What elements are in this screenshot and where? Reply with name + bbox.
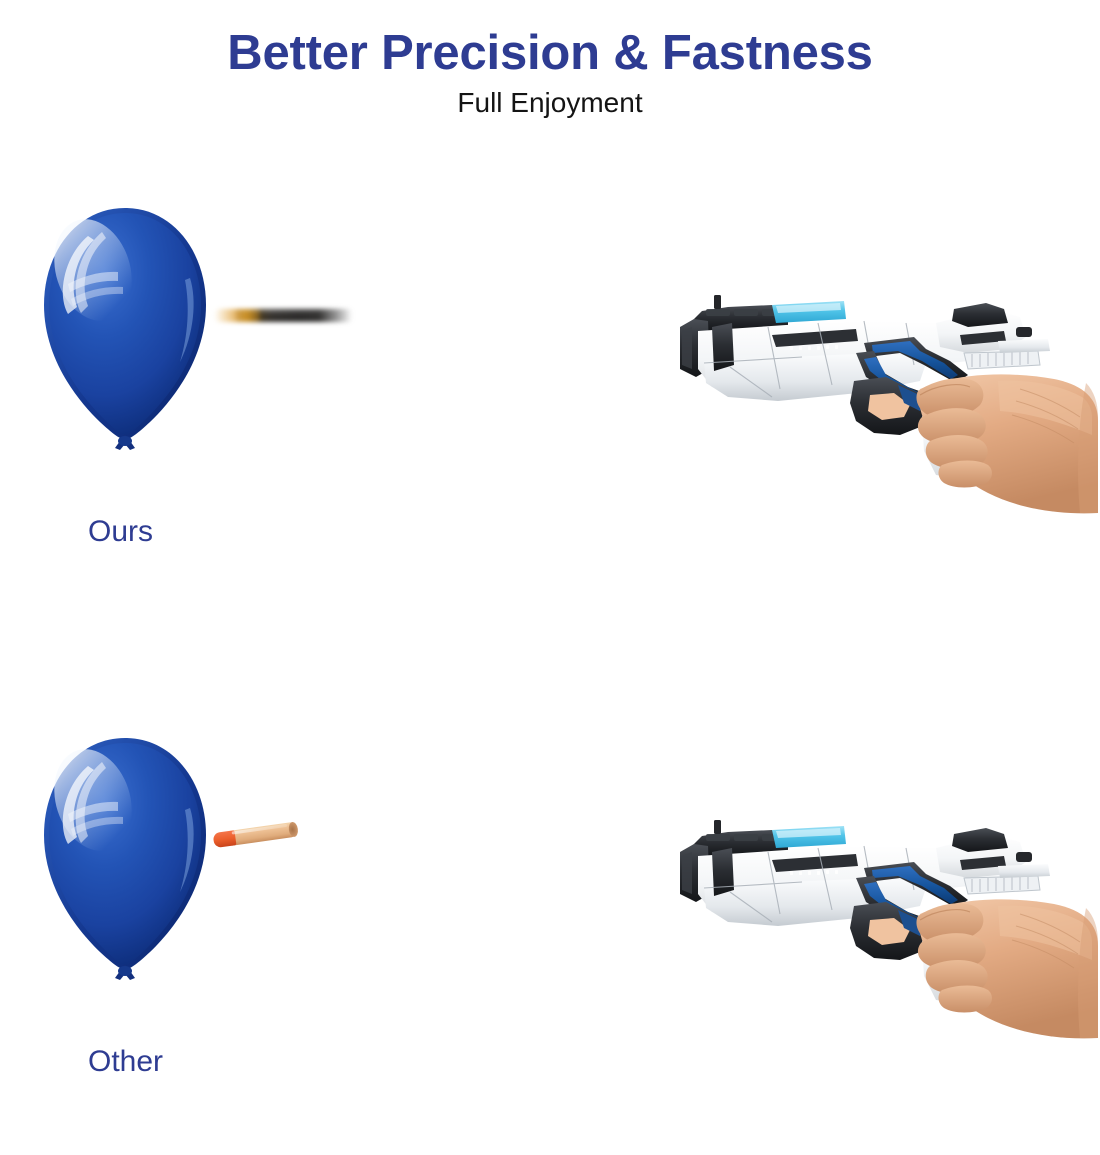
balloon-knot-center xyxy=(118,966,132,976)
blaster-rail-notch-2 xyxy=(734,309,758,316)
blaster-rail-notch-2 xyxy=(734,834,758,841)
row-label-other: Other xyxy=(88,1045,163,1079)
balloon-graphic xyxy=(30,200,220,460)
page-title: Better Precision & Fastness xyxy=(0,0,1100,79)
balloon-ours xyxy=(30,200,220,460)
comparison-row-other: Other xyxy=(0,685,1100,1155)
header: Better Precision & Fastness Full Enjoyme… xyxy=(0,0,1100,118)
blaster-graphic xyxy=(668,790,1098,1050)
blaster-side-wedge xyxy=(712,323,734,371)
blaster-front-sight xyxy=(714,820,721,834)
blaster-front-sight xyxy=(714,295,721,309)
hand-pinky-finger xyxy=(938,986,991,1013)
blaster-side-wedge xyxy=(712,848,734,896)
blaster-other xyxy=(668,790,1098,1050)
blaster-ours xyxy=(668,265,1098,525)
blaster-rear-extension xyxy=(998,864,1050,878)
blaster-graphic xyxy=(668,265,1098,525)
blaster-rail-notch-1 xyxy=(706,834,730,841)
balloon-other xyxy=(30,730,220,990)
balloon-knot-center xyxy=(118,436,132,446)
slow-dart xyxy=(208,807,308,860)
comparison-row-ours: Ours xyxy=(0,155,1100,625)
blaster-rear-sight xyxy=(952,303,1008,327)
hand-pinky-finger xyxy=(938,461,991,488)
blaster-rear-cap xyxy=(1016,327,1032,337)
blaster-rear-cap xyxy=(1016,852,1032,862)
fast-dart xyxy=(212,301,352,329)
row-label-ours: Ours xyxy=(88,515,153,549)
blaster-rail-notch-1 xyxy=(706,309,730,316)
fast-dart-highlight xyxy=(238,310,343,313)
balloon-graphic xyxy=(30,730,220,990)
blaster-muzzle-ridge xyxy=(682,852,692,894)
blaster-muzzle-ridge xyxy=(682,327,692,369)
blaster-rear-extension xyxy=(998,339,1050,353)
fast-dart-motion-blur xyxy=(212,301,352,329)
page-subtitle: Full Enjoyment xyxy=(0,79,1100,117)
blaster-rear-sight xyxy=(952,828,1008,852)
